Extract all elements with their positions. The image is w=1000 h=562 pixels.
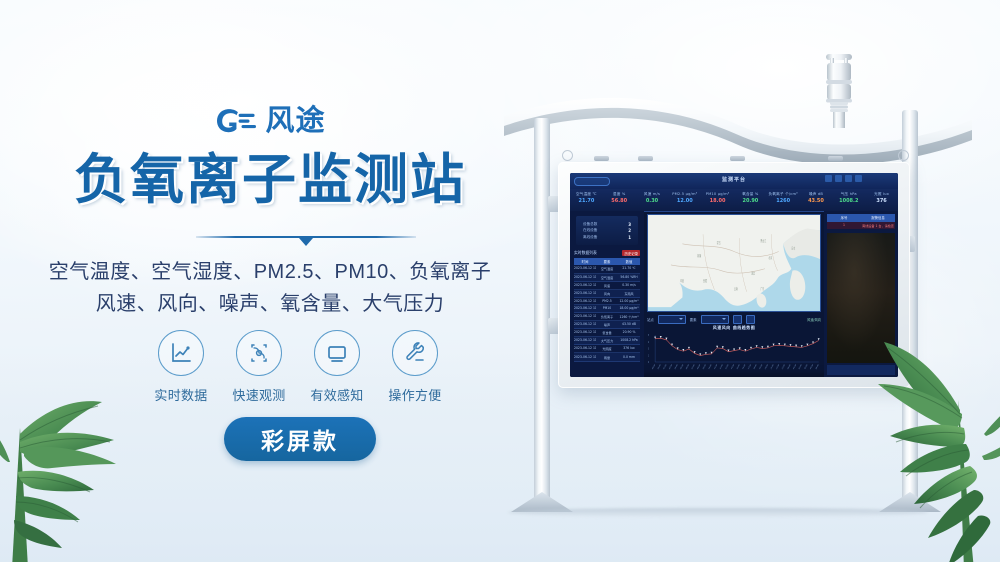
- cell-value: 20.90 %: [618, 329, 640, 336]
- cell-factor: 风速: [596, 282, 618, 289]
- line-chart-icon: [169, 341, 193, 365]
- kpi-value: 12.00: [668, 197, 701, 205]
- cell-factor: 负氧离子: [596, 313, 618, 320]
- summary-key: 在线设备: [583, 228, 597, 233]
- cell-value: 0.30 m/s: [618, 282, 640, 289]
- select-factor-label: 要素: [690, 317, 697, 322]
- kpi-value: 56.80: [603, 197, 636, 205]
- summary-key: 离线设备: [583, 235, 597, 240]
- feature-icon-wrap: [236, 330, 282, 376]
- svg-text:蒙古: 蒙古: [717, 240, 721, 245]
- kpi-item: 负氧离子 个/cm³ 1260: [767, 189, 800, 211]
- cell-time: 2023-06-12 11:20:00: [574, 265, 596, 272]
- summary-row: 设备总数 3: [583, 222, 631, 227]
- station-map[interactable]: 新疆 蒙古 黑龙江 北京 湖北 广东 云南 西藏 日本: [647, 214, 821, 312]
- svg-text:07:00: 07:00: [692, 363, 696, 370]
- left-panel: 设备总数 3 在线设备 2 离线设备 1: [570, 211, 644, 377]
- alert-column-header: 报警信息: [861, 214, 895, 222]
- hanger-hook-right: [898, 150, 909, 161]
- svg-text:02:00: 02:00: [799, 363, 803, 370]
- cell-factor: PM2.5: [596, 298, 618, 304]
- alert-index: 1: [827, 222, 861, 229]
- kpi-value: 43.50: [800, 197, 833, 205]
- cell-factor: 氧含量: [596, 329, 618, 336]
- svg-text:新疆: 新疆: [697, 254, 701, 259]
- toolbar-icon-2[interactable]: [835, 175, 842, 182]
- kpi-value: 18.00: [701, 197, 734, 205]
- support-post-left: [534, 118, 550, 506]
- column-header: 要素: [596, 258, 618, 265]
- svg-text:13:00: 13:00: [725, 363, 729, 370]
- subtitle-line-1: 空气温度、空气湿度、PM2.5、PM10、负氧离子: [0, 256, 540, 288]
- svg-text:18:00: 18:00: [754, 363, 758, 370]
- data-table-header: 实时数据列表 历史记录: [574, 250, 640, 256]
- cell-value: 376 lux: [618, 345, 640, 352]
- svg-text:3: 3: [648, 348, 649, 350]
- table-row[interactable]: 2023-06-12 11:20:00 噪声 43.50 dB: [574, 321, 640, 329]
- cell-factor: 大气压力: [596, 337, 618, 344]
- cell-time: 2023-06-12 11:20:00: [574, 305, 596, 311]
- cta-button-color-screen[interactable]: 彩屏款: [224, 417, 376, 461]
- chart-legend: 风速/风向: [807, 317, 821, 322]
- divider-arrow-down-icon: [299, 238, 313, 246]
- svg-text:01:00: 01:00: [658, 363, 662, 370]
- alert-column-header: 序号: [827, 214, 861, 222]
- summary-value: 3: [628, 222, 631, 227]
- center-panel: 新疆 蒙古 黑龙江 北京 湖北 广东 云南 西藏 日本: [644, 211, 824, 377]
- wrench-tool-icon: [403, 341, 427, 365]
- brand-logo: 风途: [0, 104, 540, 138]
- hero-subtitle: 空气温度、空气湿度、PM2.5、PM10、负氧离子 风速、风向、噪声、氧含量、大…: [0, 256, 540, 321]
- dashboard-header: 监测平台: [570, 173, 898, 190]
- svg-text:19:00: 19:00: [759, 363, 763, 370]
- feature-label: 操作方便: [382, 385, 448, 404]
- svg-text:03:00: 03:00: [669, 363, 673, 370]
- svg-text:北京: 北京: [768, 256, 772, 261]
- mount-tab-3: [730, 156, 745, 161]
- east-asia-map-icon: 新疆 蒙古 黑龙江 北京 湖北 广东 云南 西藏 日本: [648, 215, 820, 311]
- kpi-value: 1260: [767, 197, 800, 205]
- cell-time: 2023-06-12 11:20:00: [574, 329, 596, 336]
- svg-text:02:00: 02:00: [663, 363, 667, 370]
- svg-text:16:00: 16:00: [742, 363, 746, 370]
- svg-text:01:00: 01:00: [793, 363, 797, 370]
- svg-text:黑龙江: 黑龙江: [760, 238, 766, 243]
- kpi-bar: 空气温度 ℃ 21.70 湿度 % 56.80 风速 m/s 0.30 PM: [570, 189, 898, 212]
- table-row[interactable]: 2023-06-12 11:20:00 氧含量 20.90 %: [574, 329, 640, 337]
- kpi-item: 风速 m/s 0.30: [636, 189, 669, 211]
- kpi-item: 湿度 % 56.80: [603, 189, 636, 211]
- svg-text:12:00: 12:00: [720, 363, 724, 370]
- toolbar-icon-3[interactable]: [845, 175, 852, 182]
- feature-item-fast-observation[interactable]: 快速观测: [226, 330, 292, 404]
- svg-text:日本: 日本: [791, 246, 795, 251]
- dashboard-toolbar: [825, 175, 862, 182]
- cell-factor: 空气温度: [596, 265, 618, 272]
- svg-text:湖北: 湖北: [751, 271, 755, 276]
- summary-value: 1: [628, 235, 631, 240]
- kpi-item: 空气温度 ℃ 21.70: [570, 189, 603, 211]
- cell-time: 2023-06-12 11:20:00: [574, 345, 596, 352]
- svg-text:00:00: 00:00: [787, 363, 791, 370]
- svg-text:1: 1: [648, 355, 649, 357]
- mount-tab-1: [594, 156, 609, 161]
- trend-chart: 风速风向 曲线趋势图 0134500:0001:0002:0003:0004:0…: [647, 325, 821, 375]
- page-title: 负氧离子监测站: [0, 152, 540, 209]
- feature-label: 快速观测: [226, 385, 292, 404]
- cell-value: 东南风: [618, 290, 640, 297]
- kpi-item: PM10 μg/m³ 18.00: [701, 189, 734, 211]
- wind-speed-line-chart: 0134500:0001:0002:0003:0004:0005:0006:00…: [647, 331, 821, 375]
- feature-item-easy-operation[interactable]: 操作方便: [382, 330, 448, 404]
- svg-text:17:00: 17:00: [748, 363, 752, 370]
- chart-view-button-2[interactable]: [746, 315, 755, 324]
- svg-text:10:00: 10:00: [708, 363, 712, 370]
- svg-text:14:00: 14:00: [731, 363, 735, 370]
- kpi-value: 0.30: [636, 197, 669, 205]
- kpi-value: 1008.2: [832, 197, 865, 205]
- table-row[interactable]: 2023-06-12 11:20:00 PM10 18.00 μg/m³: [574, 305, 640, 312]
- data-table-title: 实时数据列表: [574, 250, 597, 256]
- chart-view-button-1[interactable]: [733, 315, 742, 324]
- table-row[interactable]: 2023-06-12 11:20:00 风速 0.30 m/s: [574, 282, 640, 290]
- svg-text:00:00: 00:00: [652, 363, 656, 370]
- svg-text:22:00: 22:00: [776, 363, 780, 370]
- cell-factor: PM10: [596, 305, 618, 311]
- svg-text:04:00: 04:00: [810, 363, 814, 370]
- svg-text:15:00: 15:00: [737, 363, 741, 370]
- cell-time: 2023-06-12 11:20:00: [574, 337, 596, 344]
- alert-message: 离线设备 1 台，请检查: [861, 222, 895, 229]
- kpi-value: 21.70: [570, 197, 603, 205]
- cell-factor: 噪声: [596, 321, 618, 328]
- cell-time: 2023-06-12 11:20:00: [574, 353, 596, 360]
- kpi-item: 气压 hPa 1008.2: [832, 189, 865, 211]
- table-row[interactable]: 2023-06-12 11:20:00 光照度 376 lux: [574, 345, 640, 353]
- history-button[interactable]: 历史记录: [622, 250, 640, 256]
- toolbar-icon-4[interactable]: [855, 175, 862, 182]
- svg-text:04:00: 04:00: [675, 363, 679, 370]
- cell-time: 2023-06-12 11:20:00: [574, 274, 596, 281]
- table-row[interactable]: 2023-06-12 11:20:00 风向 东南风: [574, 290, 640, 298]
- cell-factor: 雨量: [596, 353, 618, 360]
- svg-text:广东: 广东: [760, 286, 764, 291]
- kpi-item: 光照 lux 376: [865, 189, 898, 211]
- cell-value: 1008.2 hPa: [618, 337, 640, 344]
- cell-time: 2023-06-12 11:20:00: [574, 282, 596, 289]
- alert-row[interactable]: 1 离线设备 1 台，请检查: [827, 222, 895, 229]
- svg-text:05:00: 05:00: [680, 363, 684, 370]
- svg-text:云南: 云南: [734, 286, 738, 291]
- fengtu-wind-g-icon: [214, 104, 256, 138]
- table-row[interactable]: 2023-06-12 11:20:00 空气温度 21.70 ℃: [574, 265, 640, 273]
- summary-key: 设备总数: [583, 222, 597, 227]
- mount-tab-4: [828, 156, 843, 161]
- svg-text:印度: 印度: [680, 279, 684, 284]
- summary-value: 2: [628, 228, 631, 233]
- kpi-item: PM2.5 μg/m³ 12.00: [668, 189, 701, 211]
- table-row[interactable]: 2023-06-12 11:20:00 负氧离子 1260 个/cm³: [574, 313, 640, 321]
- radar-observation-icon: [247, 341, 271, 365]
- table-row[interactable]: 2023-06-12 11:20:00 大气压力 1008.2 hPa: [574, 337, 640, 345]
- hanger-hook-left: [562, 150, 573, 161]
- svg-text:20:00: 20:00: [765, 363, 769, 370]
- cell-value: 0.0 mm: [618, 353, 640, 360]
- device-summary: 设备总数 3 在线设备 2 离线设备 1: [576, 216, 638, 245]
- chart-controls: 站点 要素 风速/风向: [647, 314, 821, 324]
- monitor-display-icon: [325, 341, 349, 365]
- banana-leaf-foliage-left: [0, 368, 200, 562]
- feature-item-effective-sensing[interactable]: 有效感知: [304, 330, 370, 404]
- select-factor-dropdown[interactable]: [701, 315, 729, 324]
- promo-banner: 风途 负氧离子监测站 空气温度、空气湿度、PM2.5、PM10、负氧离子 风速、…: [0, 0, 1000, 562]
- cell-value: 18.00 μg/m³: [618, 305, 640, 311]
- cell-value: 12.00 μg/m³: [618, 298, 640, 304]
- svg-text:05:00: 05:00: [816, 363, 820, 370]
- table-row[interactable]: 2023-06-12 11:20:00 雨量 0.0 mm: [574, 353, 640, 361]
- svg-text:03:00: 03:00: [804, 363, 808, 370]
- mount-tab-2: [638, 156, 653, 161]
- table-header-row: 时间 要素 数值: [574, 258, 640, 265]
- toolbar-icon-1[interactable]: [825, 175, 832, 182]
- svg-text:23:00: 23:00: [782, 363, 786, 370]
- data-table: 时间 要素 数值 2023-06-12 11:20:00 空气温度 21.70 …: [574, 258, 640, 362]
- svg-text:4: 4: [648, 342, 649, 344]
- svg-text:09:00: 09:00: [703, 363, 707, 370]
- alert-table-header: 序号 报警信息: [827, 214, 895, 222]
- title-divider: [196, 236, 416, 238]
- cell-time: 2023-06-12 11:20:00: [574, 321, 596, 328]
- cell-factor: 空气湿度: [596, 274, 618, 281]
- cell-value: 43.50 dB: [618, 321, 640, 328]
- svg-text:0: 0: [648, 362, 649, 364]
- svg-text:06:00: 06:00: [686, 363, 690, 370]
- select-site-label: 站点: [647, 317, 654, 322]
- svg-text:西藏: 西藏: [703, 279, 707, 284]
- select-site-dropdown[interactable]: [658, 315, 686, 324]
- cell-value: 56.80 %RH: [618, 274, 640, 281]
- column-header: 时间: [574, 258, 596, 265]
- kpi-item: 噪声 dB 43.50: [800, 189, 833, 211]
- kpi-value: 376: [865, 197, 898, 205]
- svg-text:5: 5: [648, 335, 649, 337]
- cell-time: 2023-06-12 11:20:00: [574, 298, 596, 304]
- svg-text:21:00: 21:00: [770, 363, 774, 370]
- feature-label: 有效感知: [304, 385, 370, 404]
- cell-factor: 光照度: [596, 345, 618, 352]
- svg-text:11:00: 11:00: [714, 363, 718, 370]
- table-row[interactable]: 2023-06-12 11:20:00 空气湿度 56.80 %RH: [574, 274, 640, 282]
- cell-value: 1260 个/cm³: [618, 313, 640, 320]
- feature-icon-wrap: [392, 330, 438, 376]
- column-header: 数值: [618, 258, 640, 265]
- site-selector[interactable]: [574, 177, 610, 186]
- summary-row: 离线设备 1: [583, 235, 631, 240]
- subtitle-line-2: 风速、风向、噪声、氧含量、大气压力: [0, 288, 540, 320]
- cell-factor: 风向: [596, 290, 618, 297]
- kpi-item: 氧含量 % 20.90: [734, 189, 767, 211]
- cell-time: 2023-06-12 11:20:00: [574, 313, 596, 320]
- brand-name: 风途: [265, 107, 325, 136]
- table-row[interactable]: 2023-06-12 11:20:00 PM2.5 12.00 μg/m³: [574, 298, 640, 305]
- cell-time: 2023-06-12 11:20:00: [574, 290, 596, 297]
- feature-icon-wrap: [314, 330, 360, 376]
- banana-leaf-foliage-right: [834, 340, 1000, 562]
- cell-value: 21.70 ℃: [618, 265, 640, 272]
- svg-text:08:00: 08:00: [697, 363, 701, 370]
- ultrasonic-weather-sensor-icon: [818, 52, 860, 130]
- kpi-value: 20.90: [734, 197, 767, 205]
- summary-row: 在线设备 2: [583, 228, 631, 233]
